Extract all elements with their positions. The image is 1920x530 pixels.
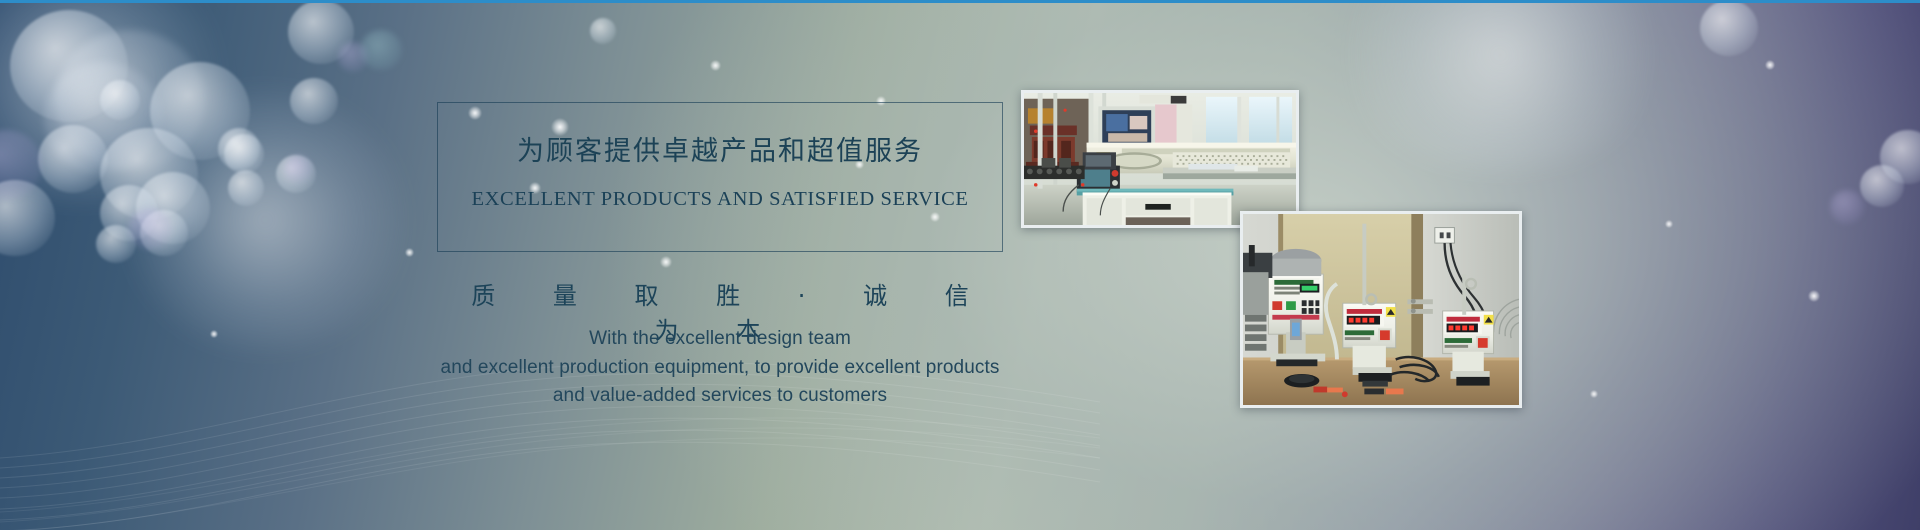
crimping-machines-photo <box>1240 211 1522 408</box>
production-line-photo-artwork <box>1024 93 1296 225</box>
production-line-photo <box>1021 90 1299 228</box>
top-accent-rule <box>0 0 1920 3</box>
description-paragraph: With the excellent design team and excel… <box>330 325 1110 411</box>
banner-content: 为顾客提供卓越产品和超值服务 EXCELLENT PRODUCTS AND SA… <box>0 0 1920 530</box>
crimping-machines-photo-artwork <box>1243 214 1519 405</box>
headline-chinese: 为顾客提供卓越产品和超值服务 <box>437 129 1003 168</box>
headline-frame <box>437 102 1003 252</box>
description-line-2: and excellent production equipment, to p… <box>330 354 1110 383</box>
description-line-3: and value-added services to customers <box>330 382 1110 411</box>
hero-banner: 为顾客提供卓越产品和超值服务 EXCELLENT PRODUCTS AND SA… <box>0 0 1920 530</box>
description-line-1: With the excellent design team <box>330 325 1110 354</box>
headline-english: EXCELLENT PRODUCTS AND SATISFIED SERVICE <box>437 188 1003 211</box>
